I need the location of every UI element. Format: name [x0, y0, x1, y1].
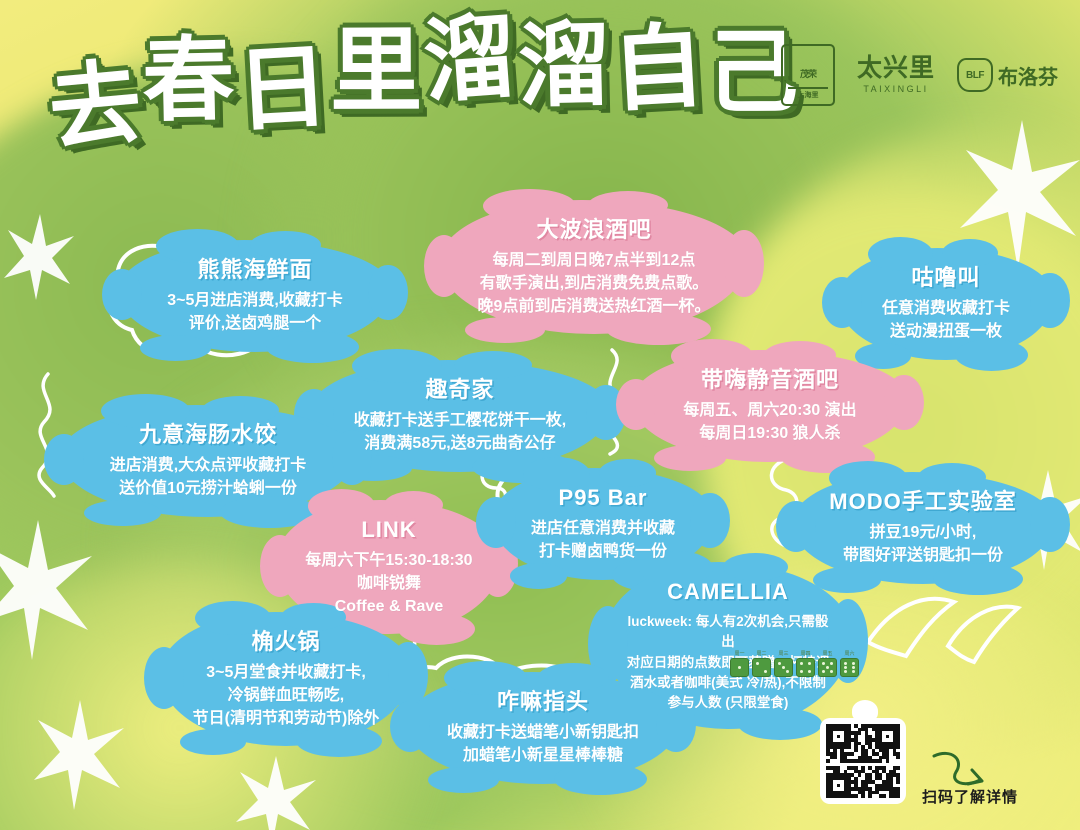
dice-face-icon	[730, 658, 749, 677]
dice-day-label: 周四	[800, 650, 810, 657]
logo-seal-inner-text: 茂荣	[800, 70, 816, 79]
bubble-lobe	[690, 493, 730, 549]
poster-canvas: 去春日里溜溜自己 茂荣 上海里 太兴里 TAIXINGLI BLF 布洛芬 熊熊…	[0, 0, 1080, 830]
dice-face-icon	[840, 658, 859, 677]
merchant-name: LINK	[296, 514, 482, 545]
logo-taixingli: 太兴里 TAIXINGLI	[857, 56, 935, 94]
merchant-name: CAMELLIA	[624, 576, 832, 607]
merchant-name: 趣奇家	[330, 374, 590, 405]
merchant-offer: 每周二到周日晚7点半到12点 有歌手演出,到店消费免费点歌。 晚9点前到店消费送…	[460, 250, 728, 318]
dice-pip	[782, 666, 785, 669]
merchant-offer: 3~5月进店消费,收藏打卡 评价,送卤鸡腿一个	[138, 290, 372, 335]
merchant-name: 大波浪酒吧	[460, 214, 728, 245]
merchant-name: 带嗨静音酒吧	[652, 364, 888, 395]
merchant-name: 咋嘛指头	[426, 686, 660, 717]
dice-pip	[830, 662, 833, 665]
dice-item: 周三	[774, 650, 793, 677]
merchant-card-quqijia[interactable]: 趣奇家 收藏打卡送手工樱花饼干一枚, 消费满58元,送8元曲奇公仔	[310, 360, 610, 472]
bubble-lobe	[1030, 273, 1070, 329]
dice-pip	[852, 670, 855, 673]
merchant-card-daihai[interactable]: 带嗨静音酒吧 每周五、周六20:30 演出 每周日19:30 狼人杀	[632, 350, 908, 462]
merchant-offer: 每周六下午15:30-18:30 咖啡锐舞 Coffee & Rave	[296, 550, 482, 618]
merchant-card-juehuoguo[interactable]: 桷火锅 3~5月堂食并收藏打卡, 冷锅鲜血旺畅吃, 节日(清明节和劳动节)除外	[160, 612, 412, 746]
merchant-name: MODO手工实验室	[812, 486, 1034, 517]
bubble-lobe	[44, 434, 84, 485]
dice-pip	[800, 662, 803, 665]
sparkle-icon-bottom-center	[236, 756, 316, 830]
merchant-offer: 进店消费,大众点评收藏打卡 送价值10元捞汁蛤蜊一份	[80, 455, 336, 500]
sparkle-icon-left	[0, 520, 92, 660]
bubble-lobe	[140, 335, 211, 361]
merchant-name: P95 Bar	[512, 482, 694, 513]
merchant-name: 熊熊海鲜面	[138, 254, 372, 285]
doodle-leaf-right	[862, 586, 1022, 666]
dice-face-icon	[774, 658, 793, 677]
bubble-lobe	[428, 767, 499, 793]
dice-pip	[844, 670, 847, 673]
dice-pip	[852, 666, 855, 669]
merchant-offer: 拼豆19元/小时, 带图好评送钥匙扣一份	[812, 522, 1034, 567]
dice-pip	[822, 662, 825, 665]
title-char: 里	[330, 25, 424, 117]
title-char: 日	[234, 41, 333, 138]
merchant-card-jiuyi[interactable]: 九意海肠水饺 进店消费,大众点评收藏打卡 送价值10元捞汁蛤蜊一份	[60, 405, 356, 517]
dice-pip	[808, 670, 811, 673]
dice-day-label: 周二	[756, 650, 766, 657]
bubble-lobe	[822, 277, 862, 328]
dice-item: 周一	[730, 650, 749, 677]
bubble-lobe	[390, 701, 430, 752]
bubble-lobe	[260, 535, 300, 597]
bubble-lobe	[510, 563, 568, 589]
dice-item: 周二	[752, 650, 771, 677]
sparkle-icon-bottom-left	[34, 700, 124, 810]
dice-pip	[800, 670, 803, 673]
logo-taixingli-en: TAIXINGLI	[857, 84, 935, 94]
dice-pip	[764, 670, 767, 673]
bubble-lobe	[102, 269, 142, 320]
merchant-offer: 收藏打卡送蜡笔小新钥匙扣 加蜡笔小新星星棒棒糖	[426, 722, 660, 767]
dice-pip	[830, 670, 833, 673]
merchant-card-p95[interactable]: P95 Bar 进店任意消费并收藏 打卡赠卤鸭货一份	[492, 468, 714, 580]
title-char: 溜	[421, 11, 522, 110]
bubble-lobe	[724, 230, 764, 297]
qr-code[interactable]	[820, 718, 906, 804]
dice-pip	[786, 670, 789, 673]
merchant-card-zhamazhitou[interactable]: 咋嘛指头 收藏打卡送蜡笔小新钥匙扣 加蜡笔小新星星棒棒糖	[406, 672, 680, 784]
title-char: 溜	[517, 19, 613, 113]
bubble-lobe	[1030, 497, 1070, 553]
dice-pip	[826, 666, 829, 669]
qr-code-grid	[826, 724, 900, 798]
sparkle-icon-mid-left	[4, 214, 74, 300]
poster-title: 去春日里溜溜自己	[48, 22, 788, 182]
merchant-card-gululu[interactable]: 咕噜叫 任意消费收藏打卡 送动漫扭蛋一枚	[838, 248, 1054, 360]
bubble-lobe	[84, 500, 161, 526]
logo-buluofen-cn: 布洛芬	[998, 61, 1058, 90]
logo-buluofen-mark-icon: BLF	[957, 58, 993, 92]
merchant-offer: 每周五、周六20:30 演出 每周日19:30 狼人杀	[652, 400, 888, 445]
merchant-card-xiongxiong[interactable]: 熊熊海鲜面 3~5月进店消费,收藏打卡 评价,送卤鸡腿一个	[118, 240, 392, 352]
dice-face-icon	[818, 658, 837, 677]
bubble-lobe	[465, 317, 545, 343]
dice-item: 周五	[818, 650, 837, 677]
brand-logos: 茂荣 上海里 太兴里 TAIXINGLI BLF 布洛芬	[781, 44, 1058, 106]
title-char: 去	[45, 56, 147, 156]
merchant-name: 九意海肠水饺	[80, 419, 336, 450]
dice-pip	[808, 662, 811, 665]
dice-day-label: 周五	[822, 650, 832, 657]
dice-pip	[822, 670, 825, 673]
dice-strip: 周一周二周三周四周五周六	[730, 650, 859, 677]
merchant-offer: 3~5月堂食并收藏打卡, 冷锅鲜血旺畅吃, 节日(清明节和劳动节)除外	[180, 662, 392, 730]
merchant-offer: 收藏打卡送手工樱花饼干一枚, 消费满58元,送8元曲奇公仔	[330, 410, 590, 455]
merchant-card-link[interactable]: LINK 每周六下午15:30-18:30 咖啡锐舞 Coffee & Rave	[276, 500, 502, 634]
dice-pip	[844, 666, 847, 669]
dice-face-icon	[752, 658, 771, 677]
merchant-card-dabolang[interactable]: 大波浪酒吧 每周二到周日晚7点半到12点 有歌手演出,到店消费免费点歌。 晚9点…	[440, 200, 748, 334]
dice-item: 周四	[796, 650, 815, 677]
merchant-name: 桷火锅	[180, 626, 392, 657]
bubble-lobe	[616, 379, 656, 430]
logo-seal-band-text: 上海里	[788, 87, 828, 100]
dice-day-label: 周六	[844, 650, 854, 657]
dice-pip	[756, 662, 759, 665]
dice-face-icon	[796, 658, 815, 677]
dice-day-label: 周三	[778, 650, 788, 657]
merchant-card-modo[interactable]: MODO手工实验室 拼豆19元/小时, 带图好评送钥匙扣一份	[792, 472, 1054, 584]
dice-pip	[778, 662, 781, 665]
bubble-lobe	[884, 375, 924, 431]
merchant-offer: 任意消费收藏打卡 送动漫扭蛋一枚	[858, 298, 1034, 343]
dice-pip	[738, 666, 741, 669]
bubble-lobe	[776, 501, 816, 552]
bubble-lobe	[368, 265, 408, 321]
dice-pip	[852, 662, 855, 665]
title-char: 春	[141, 34, 237, 128]
logo-buluofen: BLF 布洛芬	[957, 58, 1058, 92]
bubble-lobe	[424, 235, 464, 297]
bubble-lobe	[476, 497, 516, 548]
bubble-lobe	[144, 647, 184, 709]
bubble-lobe	[654, 445, 726, 471]
logo-taixingli-cn: 太兴里	[857, 56, 935, 81]
merchant-name: 咕噜叫	[858, 262, 1034, 293]
bubble-lobe	[180, 729, 246, 755]
dice-day-label: 周一	[734, 650, 744, 657]
dice-pip	[844, 662, 847, 665]
dice-item: 周六	[840, 650, 859, 677]
poster-title-text: 去春日里溜溜自己	[47, 8, 790, 128]
merchant-offer: 进店任意消费并收藏 打卡赠卤鸭货一份	[512, 518, 694, 563]
title-char: 自	[610, 20, 709, 117]
logo-seal-icon: 茂荣 上海里	[781, 44, 835, 106]
qr-caption: 扫码了解详情	[922, 786, 1018, 807]
